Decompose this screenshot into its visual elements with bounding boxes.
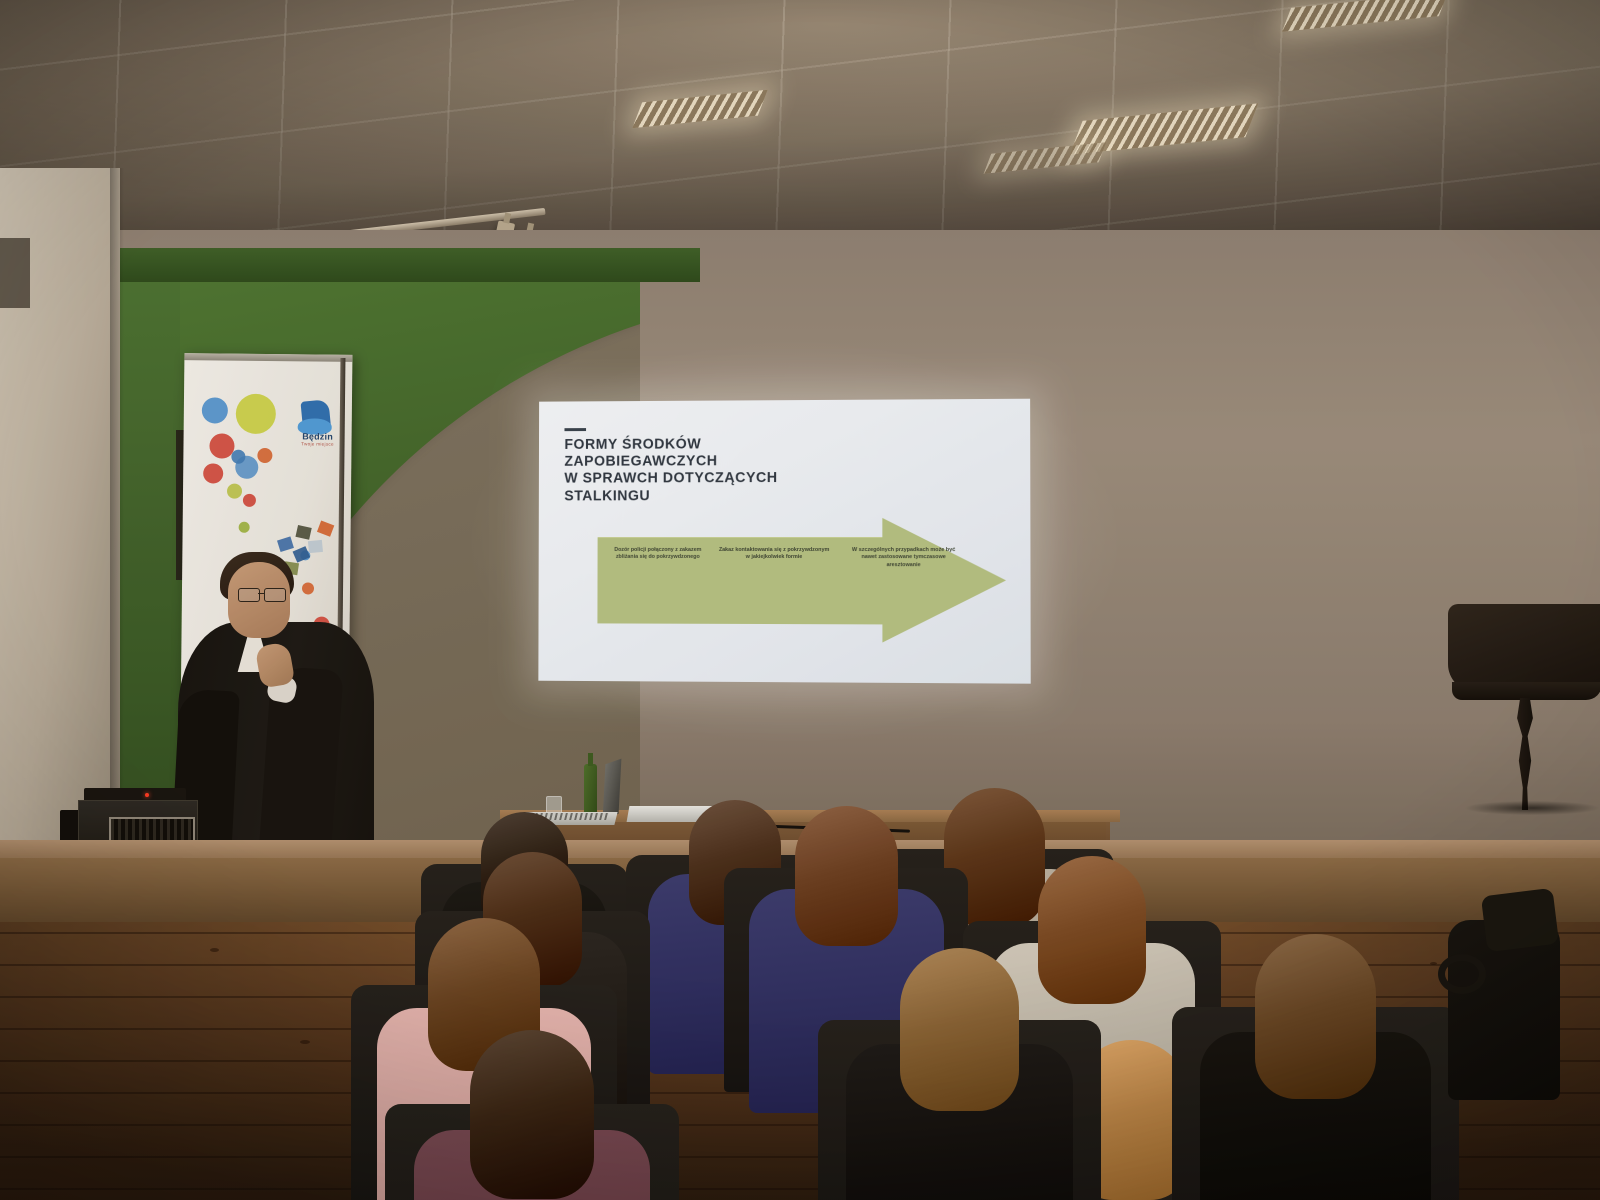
audience-member-hair: [1255, 934, 1376, 1099]
audience-member: [836, 948, 1083, 1200]
audience-member: [404, 1030, 661, 1200]
logo-text: Będzin: [296, 431, 340, 441]
banner-dot: [243, 494, 256, 507]
piano-shadow: [1442, 800, 1600, 816]
banner-top-rail: [184, 353, 352, 362]
arrow-step-1-text: Dozór policji połączony z zakazem zbliża…: [603, 547, 712, 562]
banner-dot: [236, 394, 276, 434]
backpack-top-pocket: [1481, 888, 1559, 952]
slide-accent-dash: [564, 428, 586, 431]
piano-lip: [1452, 682, 1600, 700]
slide-title-line-2: ZAPOBIEGAWCZYCH: [564, 453, 892, 471]
slide-title: FORMY ŚRODKÓW ZAPOBIEGAWCZYCH W SPRAWCH …: [564, 436, 892, 506]
audience-member-hair: [900, 948, 1020, 1111]
banner-dot: [203, 463, 223, 483]
piano-body: [1448, 604, 1600, 692]
left-wall-edge-shadow: [110, 168, 124, 888]
banner-dot: [231, 450, 245, 464]
banner-dot: [239, 522, 250, 533]
slide-title-line-4: STALKINGU: [564, 487, 892, 505]
audience-member-hair: [795, 806, 898, 946]
arrow-step-3-text: W szczególnych przypadkach może być nawe…: [844, 547, 963, 569]
backpack-strap: [1438, 954, 1486, 994]
status-led: [145, 793, 149, 797]
laptop-screen: [603, 759, 622, 820]
banner-square: [295, 525, 311, 540]
eyeglasses-icon: [238, 588, 288, 601]
banner-dot: [202, 397, 228, 423]
arrow-head-icon: [882, 518, 1006, 643]
arrow-step-2-text: Zakaz kontaktowania się z pokrzywdzonym …: [718, 547, 830, 562]
lecture-hall-photo: FORMY ŚRODKÓW ZAPOBIEGAWCZYCH W SPRAWCH …: [0, 0, 1600, 1200]
bedzin-logo: Będzin Twoje miejsce: [295, 400, 340, 452]
grand-piano: [1448, 604, 1600, 814]
audience-member-hair: [470, 1030, 594, 1199]
banner-square: [317, 521, 334, 537]
piano-leg: [1514, 698, 1536, 810]
slide-title-line-3: W SPRAWCH DOTYCZĄCYCH: [564, 470, 892, 488]
projected-slide: FORMY ŚRODKÓW ZAPOBIEGAWCZYCH W SPRAWCH …: [538, 399, 1030, 684]
logo-subtext: Twoje miejsce: [295, 441, 339, 446]
slide-title-line-1: FORMY ŚRODKÓW: [564, 436, 892, 454]
banner-dot: [227, 484, 242, 499]
wall-dark-strip: [0, 238, 30, 308]
slide-process-arrow: Dozór policji połączony z zakazem zbliża…: [597, 537, 1008, 638]
audience-member: [1190, 934, 1441, 1200]
bottle: [584, 764, 597, 814]
backpack: [1448, 920, 1560, 1100]
banner-dot: [257, 448, 272, 463]
